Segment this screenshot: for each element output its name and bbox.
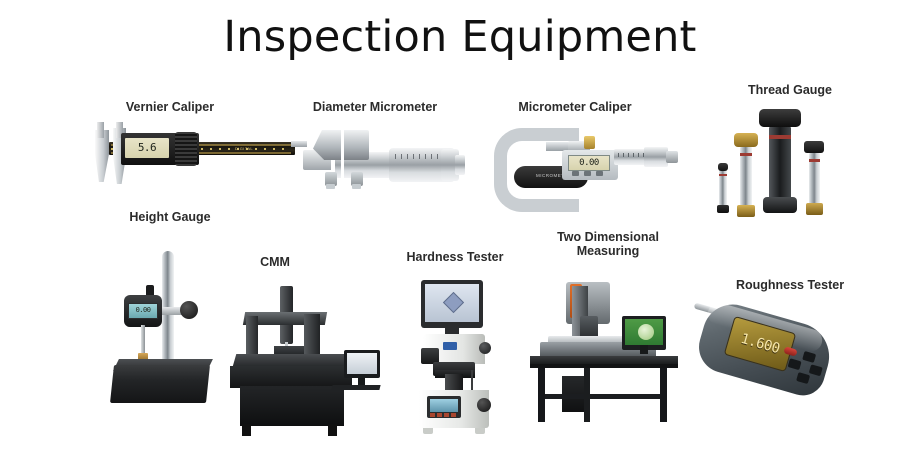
mmic-thimble — [644, 147, 668, 167]
label-thread-gauge: Thread Gauge — [690, 83, 890, 97]
thread-gauge-right-ring — [809, 159, 820, 162]
label-diameter-micrometer: Diameter Micrometer — [275, 100, 475, 114]
dmic-screw-right — [352, 184, 361, 189]
mmic-sleeve — [614, 149, 648, 165]
dmic-sleeve-graduations — [395, 154, 445, 159]
hardness-foot-left — [423, 428, 433, 434]
twod-table-shelf — [542, 394, 664, 399]
thread-gauge-large — [759, 109, 801, 215]
image-roughness-tester: 1.600 — [692, 300, 842, 440]
label-roughness-tester: Roughness Tester — [690, 278, 890, 292]
height-gauge-reading: 0.00 — [129, 306, 157, 314]
label-cmm: CMM — [215, 255, 335, 269]
thread-gauge-right-knob — [804, 141, 824, 153]
image-micrometer-caliper: MICROMETER 0.00 — [488, 122, 688, 202]
label-vernier-caliper: Vernier Caliper — [60, 100, 280, 114]
caliper-lcd: 5.6 — [125, 138, 169, 158]
page-title: Inspection Equipment — [0, 12, 920, 62]
image-diameter-micrometer — [295, 122, 475, 222]
label-hardness-tester: Hardness Tester — [385, 250, 525, 264]
caliper-upper-jaw-fixed — [97, 122, 104, 138]
roughness-key-up[interactable] — [802, 351, 816, 363]
label-height-gauge: Height Gauge — [80, 210, 260, 224]
twod-table-leg-right — [660, 368, 667, 422]
image-vernier-caliper: 5.6 DIGITAL — [85, 122, 315, 200]
mmic-ratchet-stop — [666, 151, 678, 163]
mmic-lcd: 0.00 — [568, 155, 610, 171]
label-two-dimensional-measuring: Two Dimensional Measuring — [528, 230, 688, 258]
roughness-key-right[interactable] — [809, 364, 823, 376]
image-cmm — [228, 282, 388, 442]
thread-gauge-gold-ring — [740, 153, 752, 156]
thread-gauge-small-ring — [719, 174, 727, 176]
mmic-gold-clamp — [584, 136, 595, 149]
twod-table-edge — [530, 364, 678, 368]
twod-table-top — [530, 356, 678, 364]
mmic-button-3[interactable] — [596, 171, 603, 176]
thread-gauge-large-foot — [763, 197, 797, 213]
thread-gauge-small — [715, 163, 731, 215]
thread-gauge-small-foot — [717, 205, 729, 213]
thread-gauge-right — [803, 141, 825, 217]
thread-gauge-gold-foot — [737, 205, 755, 217]
image-hardness-tester — [405, 278, 505, 438]
caliper-thumb-roller — [175, 132, 197, 166]
thread-gauge-small-shaft — [719, 171, 727, 205]
twod-monitor-stand — [640, 345, 648, 354]
hardness-brand-badge — [443, 342, 457, 350]
cmm-cabinet — [240, 386, 344, 426]
hardness-panel-screen — [430, 399, 458, 412]
roughness-reading: 1.600 — [728, 328, 792, 360]
hardness-foot-right — [475, 428, 485, 434]
caliper-reading: 5.6 — [125, 141, 169, 154]
dmic-cap — [455, 155, 465, 175]
thread-gauge-gold — [733, 133, 759, 217]
cmm-foot-left — [242, 424, 251, 436]
hardness-focus-knob[interactable] — [479, 342, 491, 354]
roughness-key-left[interactable] — [788, 358, 802, 370]
thread-gauge-large-ring — [769, 135, 791, 139]
inspection-equipment-poster: Inspection Equipment Vernier Caliper 5.6… — [0, 0, 920, 460]
height-gauge-base — [110, 365, 210, 403]
cmm-monitor-stand — [358, 378, 365, 385]
cmm-monitor-desk — [331, 385, 380, 390]
height-gauge-clamp-knob[interactable] — [180, 301, 198, 319]
image-two-dimensional-measuring — [528, 272, 683, 437]
cmm-bridge-leg-left — [246, 316, 258, 358]
thread-gauge-small-knob — [718, 163, 728, 171]
image-height-gauge: 0.00 — [110, 245, 220, 415]
dmic-gap — [341, 126, 344, 178]
mmic-button-1[interactable] — [572, 171, 579, 176]
cmm-monitor-screen — [347, 353, 377, 374]
thread-gauge-gold-knob — [734, 133, 758, 147]
thread-gauge-right-foot — [806, 203, 823, 215]
height-gauge-lcd: 0.00 — [128, 303, 158, 319]
twod-screen-part-image — [638, 324, 654, 340]
mmic-sleeve-graduations — [618, 153, 644, 157]
cmm-foot-right — [328, 424, 337, 436]
thread-gauge-gold-shaft — [740, 147, 752, 207]
label-micrometer-caliper: Micrometer Caliper — [475, 100, 675, 114]
caliper-brand-text: DIGITAL — [235, 146, 253, 151]
dmic-screw-left — [326, 184, 335, 189]
twod-table-leg-center — [584, 368, 590, 422]
roughness-key-down[interactable] — [796, 372, 810, 384]
mmic-button-2[interactable] — [584, 171, 591, 176]
thread-gauge-large-knob — [759, 109, 801, 127]
mmic-reading: 0.00 — [569, 158, 609, 168]
image-thread-gauge — [705, 105, 830, 220]
hardness-panel-buttons[interactable] — [430, 413, 458, 417]
twod-table-leg-left — [538, 368, 545, 422]
hardness-elevation-knob[interactable] — [477, 398, 491, 412]
